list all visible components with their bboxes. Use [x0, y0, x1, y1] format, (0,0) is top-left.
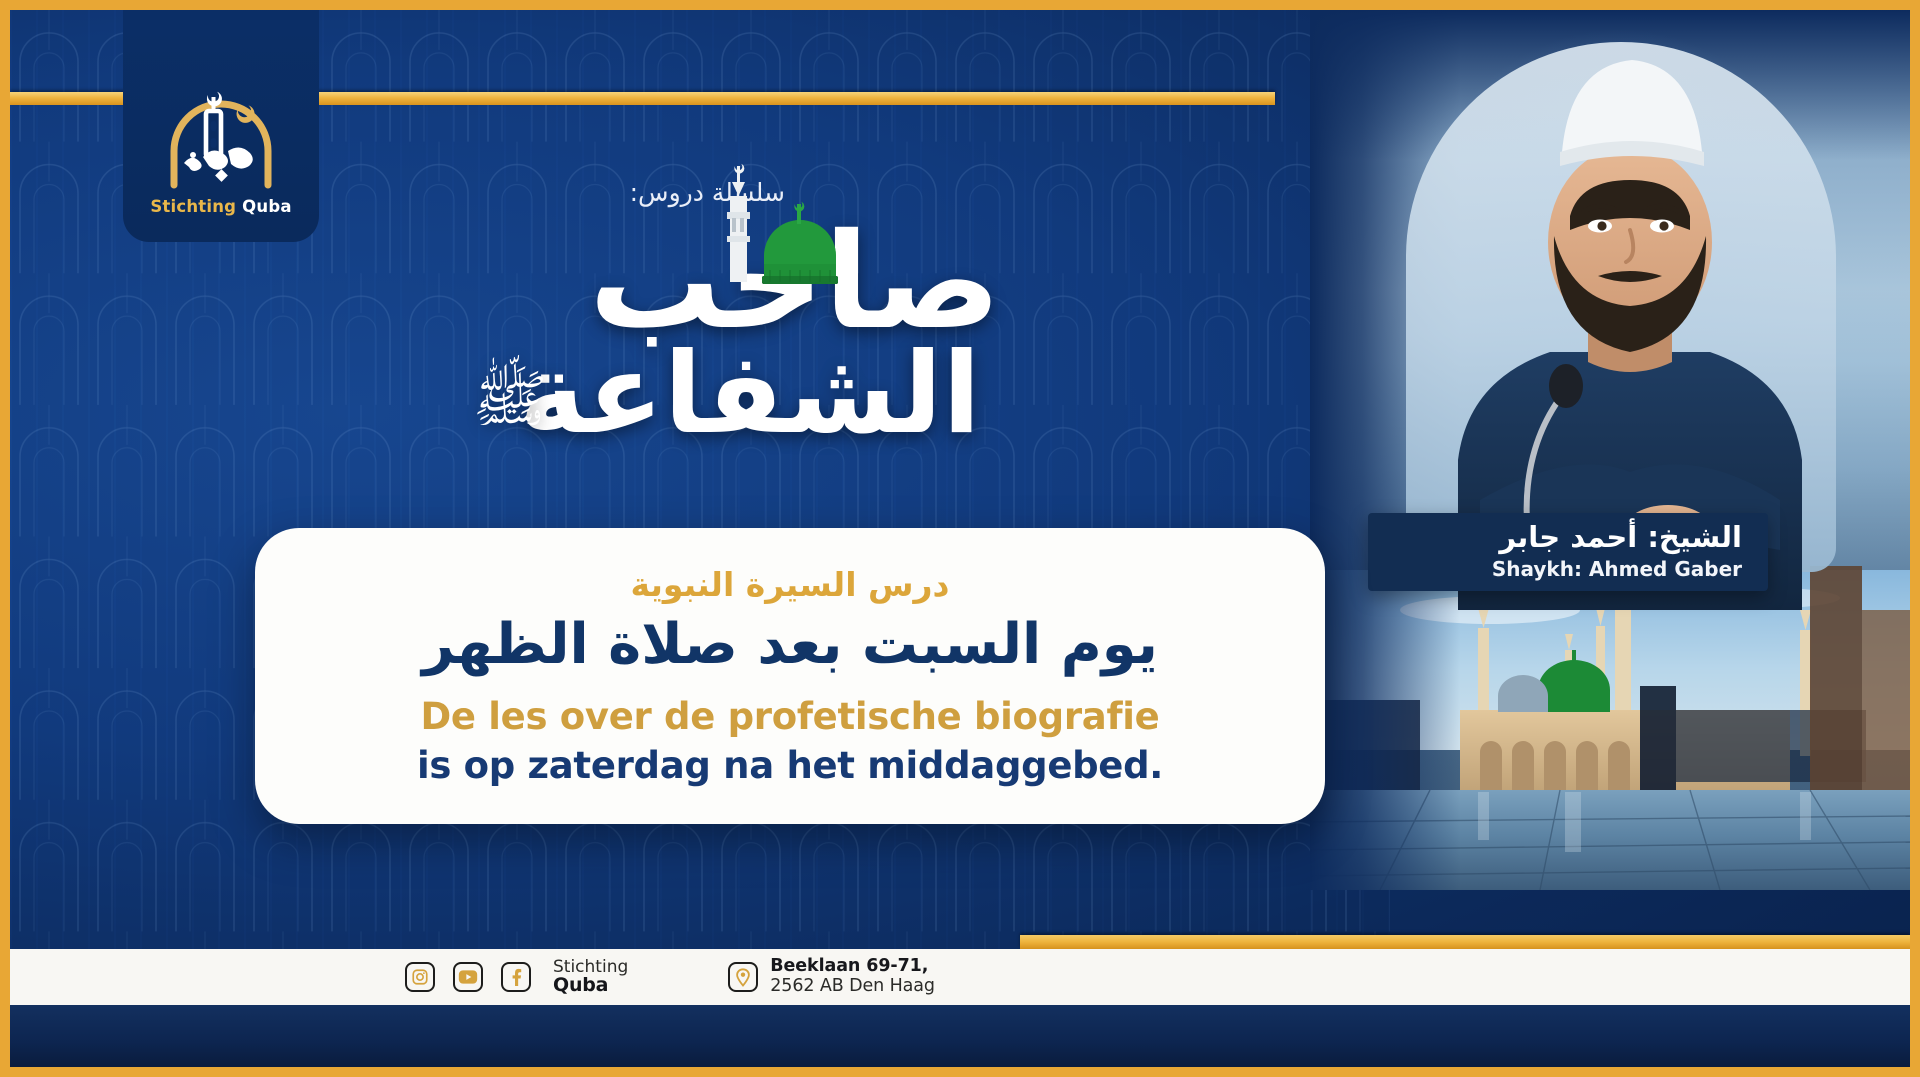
footer-bar: Stichting Quba Beeklaan 69-71, 2562 AB D… — [10, 949, 1910, 1005]
bottom-navy-strip — [10, 1005, 1910, 1067]
instagram-icon[interactable] — [405, 962, 435, 992]
lesson-subtitle-arabic: درس السيرة النبوية — [631, 565, 950, 604]
footer-address-line1: Beeklaan 69-71, — [770, 957, 935, 977]
speaker-name-arabic: الشيخ: أحمد جابر — [1499, 521, 1742, 554]
location-pin-icon — [728, 962, 758, 992]
speaker-photo-column: الشيخ: أحمد جابر Shaykh: Ahmed Gaber — [1310, 10, 1910, 890]
footer-address-line2: 2562 AB Den Haag — [770, 977, 935, 997]
brand-logo-plate[interactable]: Stichting Quba — [123, 10, 319, 242]
lesson-title-arabic: يوم السبت بعد صلاة الظهر — [422, 614, 1158, 677]
lesson-info-card: درس السيرة النبوية يوم السبت بعد صلاة ال… — [255, 528, 1325, 824]
footer-gold-rule — [1020, 935, 1910, 949]
green-dome-icon — [710, 160, 880, 300]
brand-logo-word-stichting: Stichting — [150, 197, 236, 216]
poster-canvas: Stichting Quba سلسلة دروس: صاحب الشفاعة … — [0, 0, 1920, 1077]
brand-logo-word-quba: Quba — [242, 197, 292, 216]
mosque-dome-icon — [162, 85, 280, 189]
speaker-nameplate: الشيخ: أحمد جابر Shaykh: Ahmed Gaber — [1368, 513, 1768, 591]
footer-brand: Stichting Quba — [553, 959, 628, 996]
lesson-line-dutch-1: De les over de profetische biografie — [421, 695, 1160, 738]
speaker-name-latin: Shaykh: Ahmed Gaber — [1492, 557, 1742, 581]
facebook-icon[interactable] — [501, 962, 531, 992]
lesson-line-dutch-2: is op zaterdag na het middaggebed. — [417, 744, 1163, 787]
youtube-icon[interactable] — [453, 962, 483, 992]
poster-frame: Stichting Quba سلسلة دروس: صاحب الشفاعة … — [10, 10, 1910, 1067]
footer-address: Beeklaan 69-71, 2562 AB Den Haag — [770, 957, 935, 996]
honorific-calligraphy: ﷺ — [450, 368, 570, 478]
footer-brand-line2: Quba — [553, 976, 628, 995]
brand-logo-wordmark: Stichting Quba — [150, 197, 291, 216]
